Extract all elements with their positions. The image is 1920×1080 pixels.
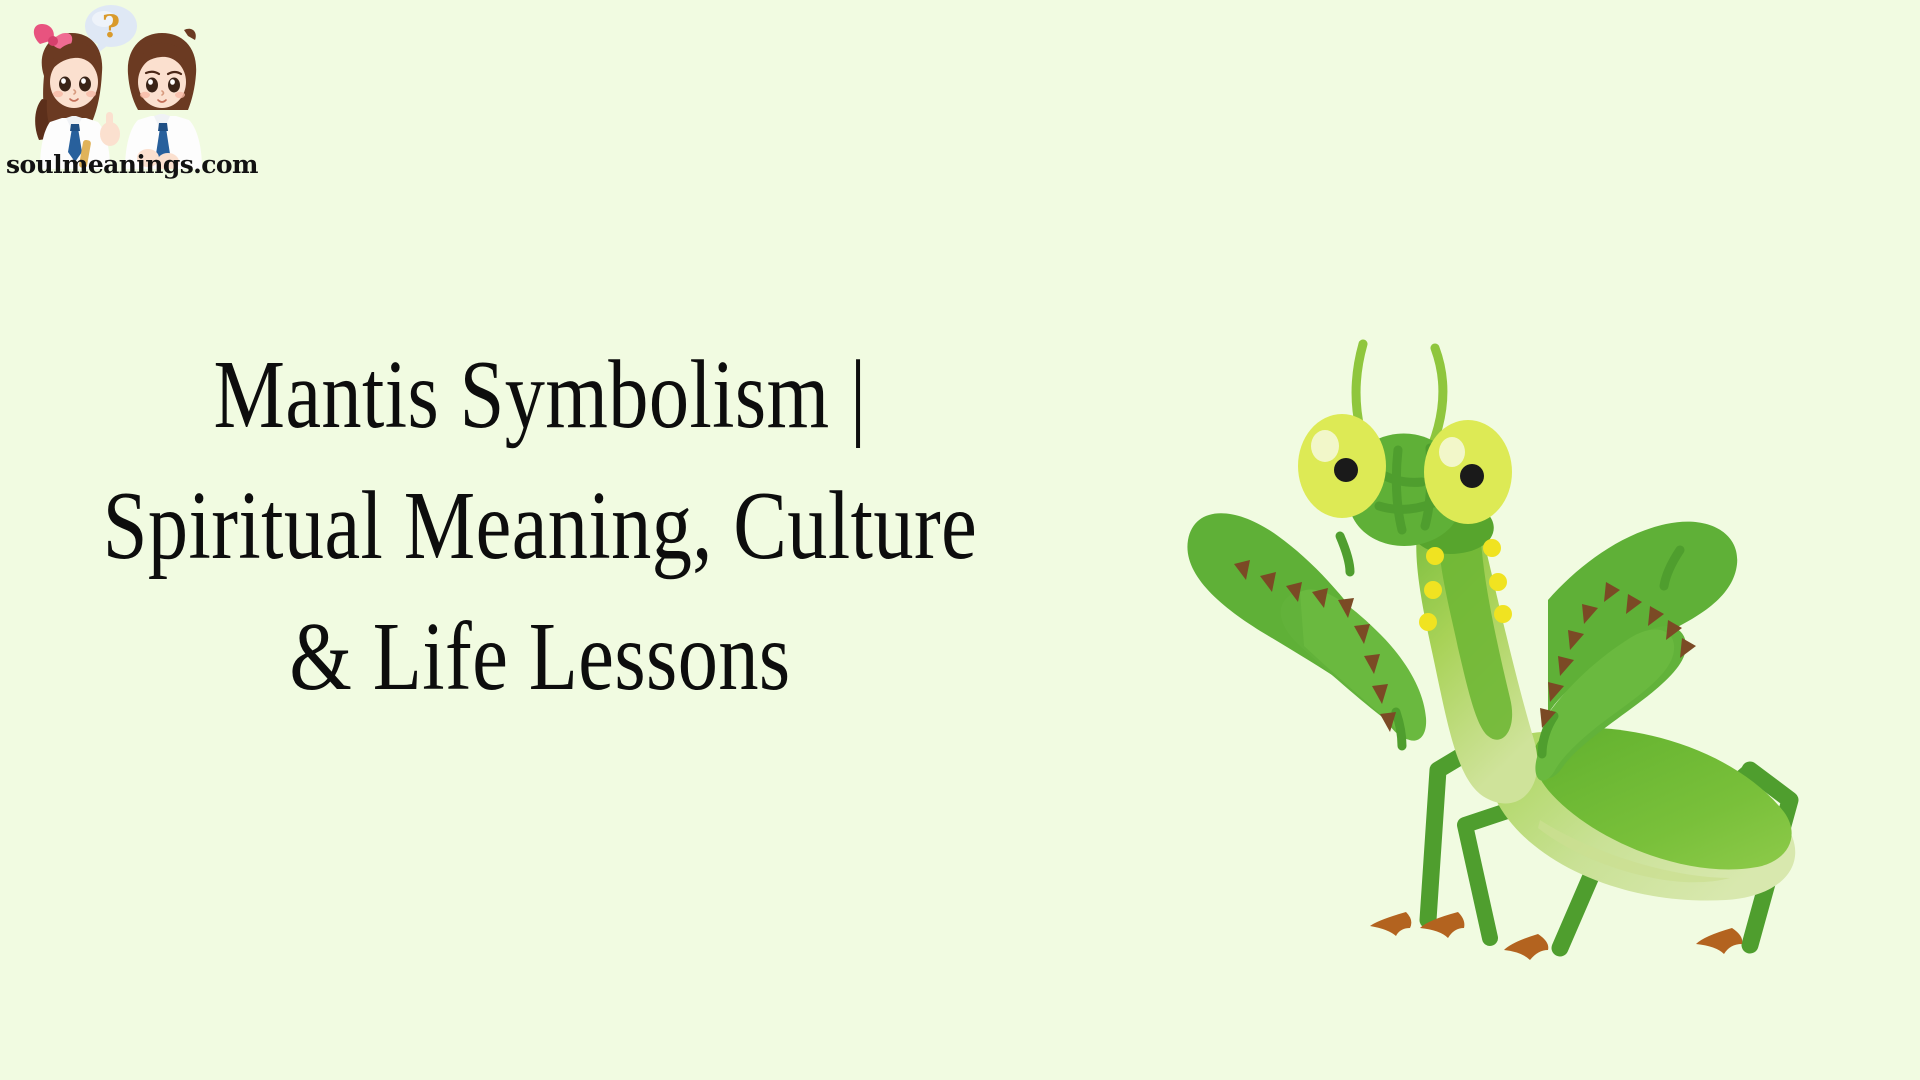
site-logo[interactable]: ? xyxy=(6,4,226,194)
page-title: Mantis Symbolism | Spiritual Meaning, Cu… xyxy=(97,330,983,723)
mantis-left-foreleg xyxy=(1187,513,1426,746)
logo-artwork: ? xyxy=(6,4,226,169)
boy-avatar-icon xyxy=(125,29,202,169)
svg-text:?: ? xyxy=(102,9,120,45)
praying-mantis-illustration xyxy=(1150,300,1870,1000)
mantis-thorax xyxy=(1407,498,1538,804)
logo-wordmark[interactable]: soulmeanings.com xyxy=(6,152,222,177)
page-title-block: Mantis Symbolism | Spiritual Meaning, Cu… xyxy=(0,330,1080,723)
